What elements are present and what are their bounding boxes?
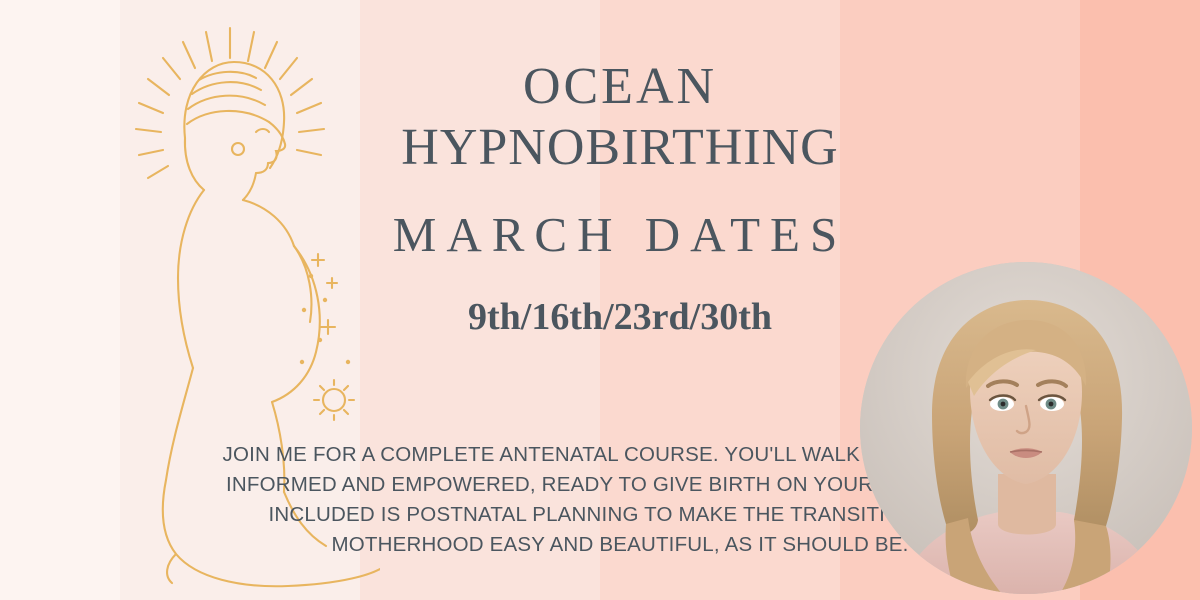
title-line-2: HYPNOBIRTHING bbox=[310, 115, 930, 180]
dates-list: 9th/16th/23rd/30th bbox=[310, 295, 930, 339]
poster-text-block: OCEAN HYPNOBIRTHING MARCH DATES 9th/16th… bbox=[310, 0, 930, 600]
portrait-illustration bbox=[860, 262, 1192, 594]
subtitle-march-dates: MARCH DATES bbox=[310, 206, 930, 263]
poster-canvas: OCEAN HYPNOBIRTHING MARCH DATES 9th/16th… bbox=[0, 0, 1200, 600]
instructor-portrait-photo bbox=[860, 262, 1192, 594]
title-line-1: OCEAN bbox=[310, 60, 930, 115]
sun-rays-icon bbox=[136, 28, 324, 178]
